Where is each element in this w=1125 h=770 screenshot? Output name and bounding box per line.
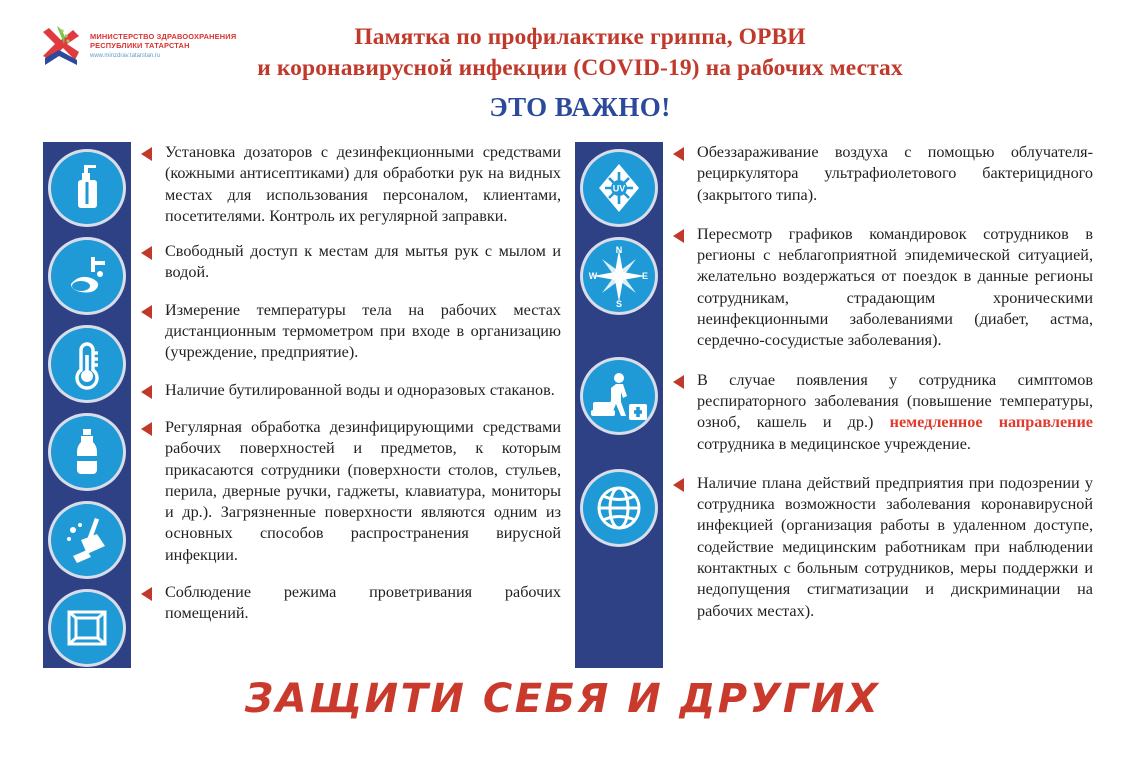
- subtitle-important: ЭТО ВАЖНО!: [250, 92, 910, 123]
- bullet-text: Установка дозаторов с дезинфекционными с…: [165, 143, 561, 225]
- bullet-text-after: сотрудника в медицинское учреждение.: [697, 435, 971, 453]
- page-title: Памятка по профилактике гриппа, ОРВИ и к…: [250, 22, 910, 123]
- bullet-marker-icon: [141, 422, 152, 436]
- bullet-text: Пересмотр графиков командировок сотрудни…: [697, 225, 1093, 349]
- medical-aid-icon: [583, 360, 655, 432]
- right-icon-bar: UV N S W E: [575, 142, 663, 668]
- bullet-text: Регулярная обработка дезинфицирующими ср…: [165, 418, 561, 564]
- water-bottle-icon: [51, 416, 123, 488]
- bullet-marker-icon: [141, 305, 152, 319]
- bullet-text: Обеззараживание воздуха с помощью облуча…: [697, 143, 1093, 204]
- list-item: Установка дозаторов с дезинфекционными с…: [141, 142, 561, 227]
- list-item: Свободный доступ к местам для мытья рук …: [141, 241, 561, 284]
- bullet-marker-icon: [673, 229, 684, 243]
- footer-slogan: ЗАЩИТИ СЕБЯ И ДРУГИХ: [0, 676, 1125, 722]
- bullet-marker-icon: [673, 478, 684, 492]
- tatarstan-emblem-icon: [33, 20, 85, 72]
- logo-ministry-line1: МИНИСТЕРСТВО ЗДРАВООХРАНЕНИЯ: [90, 32, 236, 41]
- right-bullet-list: Обеззараживание воздуха с помощью облуча…: [673, 142, 1093, 634]
- bullet-marker-icon: [141, 147, 152, 161]
- list-item: В случае появления у сотрудника симптомо…: [673, 370, 1093, 455]
- bullet-marker-icon: [141, 246, 152, 260]
- sanitizer-dispenser-icon: [51, 152, 123, 224]
- bullet-marker-icon: [673, 375, 684, 389]
- bullet-marker-icon: [673, 147, 684, 161]
- svg-text:W: W: [589, 271, 598, 281]
- bullet-text: Наличие плана действий предприятия при п…: [697, 474, 1093, 620]
- title-line-1: Памятка по профилактике гриппа, ОРВИ: [250, 22, 910, 53]
- logo-text-block: МИНИСТЕРСТВО ЗДРАВООХРАНЕНИЯ РЕСПУБЛИКИ …: [90, 32, 236, 61]
- logo-ministry-line2: РЕСПУБЛИКИ ТАТАРСТАН: [90, 41, 236, 50]
- broom-cleaning-icon: [51, 504, 123, 576]
- title-line-2: и коронавирусной инфекции (COVID-19) на …: [250, 53, 910, 84]
- uv-lamp-icon: UV: [583, 152, 655, 224]
- left-bullet-list: Установка дозаторов с дезинфекционными с…: [141, 142, 561, 637]
- handwashing-tap-icon: [51, 240, 123, 312]
- list-item: Соблюдение режима проветривания рабочих …: [141, 582, 561, 625]
- poster-header: МИНИСТЕРСТВО ЗДРАВООХРАНЕНИЯ РЕСПУБЛИКИ …: [0, 0, 1125, 128]
- thermometer-icon: [51, 328, 123, 400]
- globe-icon: [583, 472, 655, 544]
- svg-text:S: S: [616, 299, 622, 309]
- compass-rose-icon: N S W E: [583, 240, 655, 312]
- window-ventilation-icon: [51, 592, 123, 664]
- list-item: Наличие плана действий предприятия при п…: [673, 473, 1093, 622]
- bullet-marker-icon: [141, 587, 152, 601]
- svg-text:N: N: [616, 245, 623, 255]
- bullet-text: Измерение температуры тела на рабочих ме…: [165, 301, 561, 362]
- bullet-highlight-text: немедленное направление: [890, 413, 1093, 431]
- list-item: Регулярная обработка дезинфицирующими ср…: [141, 417, 561, 566]
- left-icon-bar: [43, 142, 131, 668]
- bullet-text: Соблюдение режима проветривания рабочих …: [165, 583, 561, 622]
- list-item: Обеззараживание воздуха с помощью облуча…: [673, 142, 1093, 206]
- bullet-marker-icon: [141, 385, 152, 399]
- logo-url: www.minzdrav.tatarstan.ru: [90, 53, 236, 61]
- svg-text:E: E: [642, 271, 648, 281]
- bullet-text: Наличие бутилированной воды и одноразовы…: [165, 381, 555, 399]
- ministry-logo: МИНИСТЕРСТВО ЗДРАВООХРАНЕНИЯ РЕСПУБЛИКИ …: [33, 18, 213, 74]
- list-item: Наличие бутилированной воды и одноразовы…: [141, 380, 561, 401]
- list-item: Пересмотр графиков командировок сотрудни…: [673, 224, 1093, 352]
- svg-text:UV: UV: [613, 184, 626, 194]
- list-item: Измерение температуры тела на рабочих ме…: [141, 300, 561, 364]
- bullet-text: Свободный доступ к местам для мытья рук …: [165, 242, 561, 281]
